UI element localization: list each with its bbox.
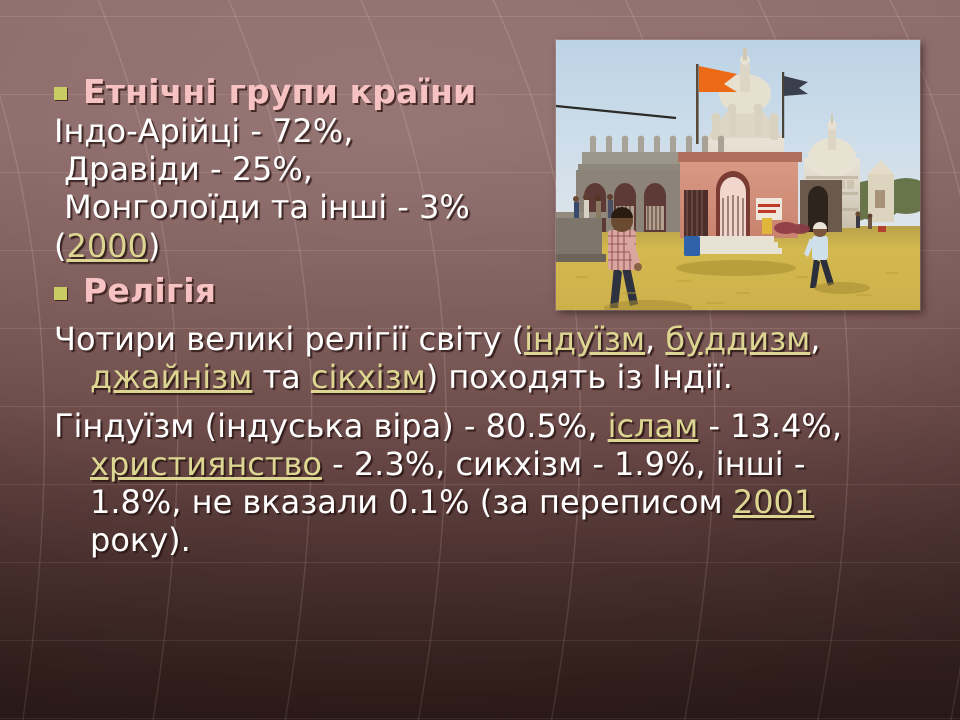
rel-p2-text-1: Гіндуїзм (індуська віра) - 80.5%, (54, 407, 608, 445)
paren-close: ) (148, 227, 160, 265)
square-bullet-icon (54, 287, 67, 300)
ethnic-line-1: Індо-Арійці - 72%, (54, 112, 884, 150)
heading-religion-label: Релігія (83, 273, 216, 309)
rel-p1-text-1: Чотири великі релігії світу ( (54, 320, 524, 358)
rel-p1-text-3: , (810, 320, 830, 358)
link-sikhism[interactable]: сікхізм (311, 358, 426, 396)
heading-religion: Релігія (54, 273, 884, 309)
link-buddhism[interactable]: буддизм (665, 320, 810, 358)
link-jainism[interactable]: джайнізм (90, 358, 252, 396)
heading-ethnic-groups: Етнічні групи країни (54, 74, 884, 110)
link-christianity[interactable]: християнство (90, 445, 322, 483)
heading-ethnic-groups-label: Етнічні групи країни (83, 74, 476, 110)
ethnic-line-3: Монголоїди та інші - 3% (54, 188, 884, 226)
paren-open: ( (54, 227, 66, 265)
square-bullet-icon (54, 87, 67, 100)
religion-paragraph-1: Чотири великі релігії світу (індуїзм, бу… (54, 321, 884, 397)
link-2001[interactable]: 2001 (733, 483, 814, 521)
ethnic-census-year: (2000) (54, 227, 884, 265)
text-column: Етнічні групи країни Індо-Арійці - 72%, … (54, 74, 884, 559)
slide-root: Етнічні групи країни Індо-Арійці - 72%, … (0, 0, 960, 720)
rel-p1-text-5: ) походять із Індії. (426, 358, 733, 396)
rel-p2-text-2: - 13.4%, (698, 407, 852, 445)
slide-content: Етнічні групи країни Індо-Арійці - 72%, … (0, 0, 960, 720)
rel-p1-text-4: та (252, 358, 311, 396)
ethnic-line-2: Дравіди - 25%, (54, 150, 884, 188)
link-hinduism[interactable]: індуїзм (524, 320, 645, 358)
link-2000[interactable]: 2000 (66, 227, 147, 265)
rel-p1-text-2: , (645, 320, 665, 358)
link-islam[interactable]: іслам (608, 407, 699, 445)
religion-paragraph-2: Гіндуїзм (індуська віра) - 80.5%, іслам … (54, 408, 884, 559)
